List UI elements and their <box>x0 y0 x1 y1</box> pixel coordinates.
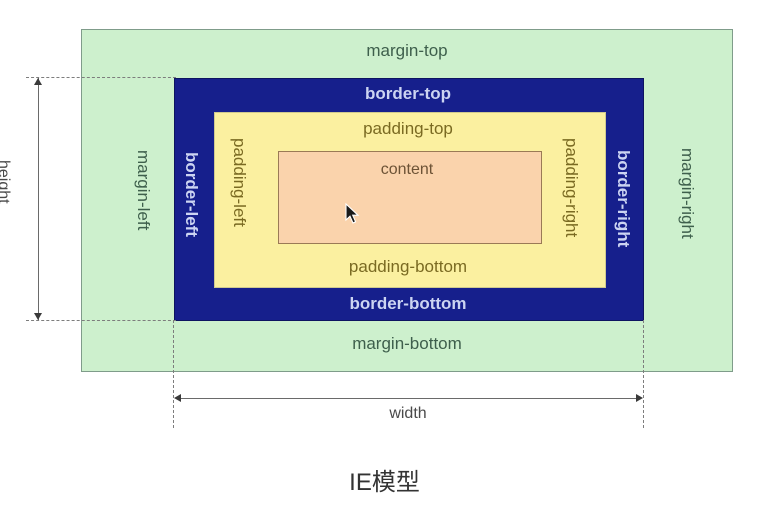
label-margin-bottom: margin-bottom <box>81 335 733 352</box>
label-margin-left: margin-left <box>135 150 152 230</box>
label-padding-left: padding-left <box>231 138 248 227</box>
height-arrow-up-icon <box>34 78 42 85</box>
height-arrow-line <box>38 78 39 320</box>
label-border-bottom: border-bottom <box>173 295 643 312</box>
margin-box <box>81 29 733 372</box>
label-height: height <box>0 160 12 204</box>
label-margin-top: margin-top <box>81 42 733 59</box>
width-arrow-left-icon <box>174 394 181 402</box>
height-arrow-down-icon <box>34 313 42 320</box>
height-guide-bottom <box>26 320 176 321</box>
label-border-right: border-right <box>615 150 632 247</box>
label-padding-right: padding-right <box>563 138 580 237</box>
label-margin-right: margin-right <box>679 148 696 239</box>
label-border-left: border-left <box>183 152 200 237</box>
box-model-diagram: margin-top border-top padding-top conten… <box>0 0 769 524</box>
label-padding-bottom: padding-bottom <box>212 258 604 275</box>
label-border-top: border-top <box>173 85 643 102</box>
label-content: content <box>275 162 539 178</box>
label-padding-top: padding-top <box>212 120 604 137</box>
label-width: width <box>173 405 643 423</box>
width-arrow-right-icon <box>636 394 643 402</box>
width-arrow-line <box>176 398 641 399</box>
mouse-pointer-icon <box>345 203 361 225</box>
diagram-title: IE模型 <box>0 462 769 497</box>
height-guide-top <box>26 77 176 78</box>
width-guide-right <box>643 320 644 428</box>
